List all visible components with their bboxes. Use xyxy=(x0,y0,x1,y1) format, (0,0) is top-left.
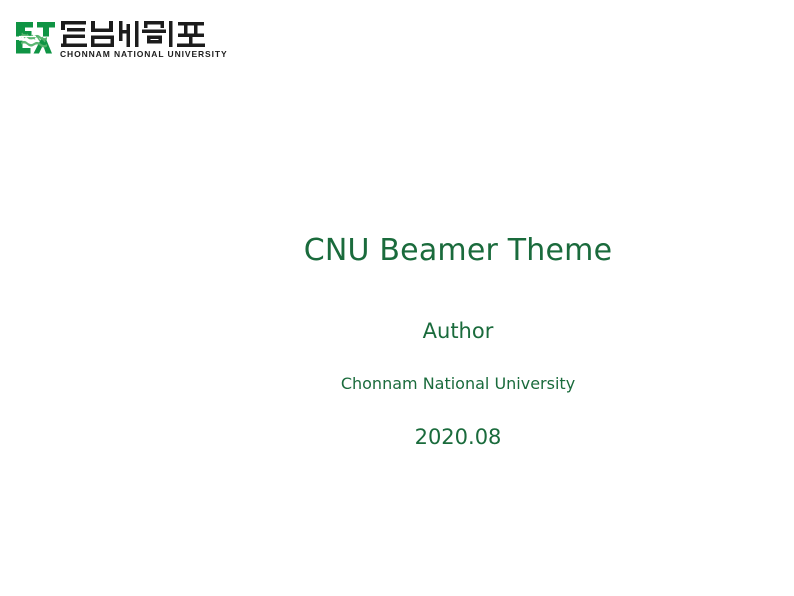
logo-hangul-text xyxy=(60,19,208,48)
author-name: Author xyxy=(0,318,794,345)
cnu-emblem-icon xyxy=(15,18,56,58)
title-slide: CHONNAM NATIONAL UNIVERSITY CNU Beamer T… xyxy=(0,0,794,596)
chonnam-national-university-logo: CHONNAM NATIONAL UNIVERSITY xyxy=(15,18,215,62)
page-title: CNU Beamer Theme xyxy=(0,232,794,270)
institute-name: Chonnam National University xyxy=(0,373,794,394)
presentation-date: 2020.08 xyxy=(0,424,794,451)
logo-wordmark: CHONNAM NATIONAL UNIVERSITY xyxy=(60,18,228,60)
logo-english-text: CHONNAM NATIONAL UNIVERSITY xyxy=(60,49,228,60)
